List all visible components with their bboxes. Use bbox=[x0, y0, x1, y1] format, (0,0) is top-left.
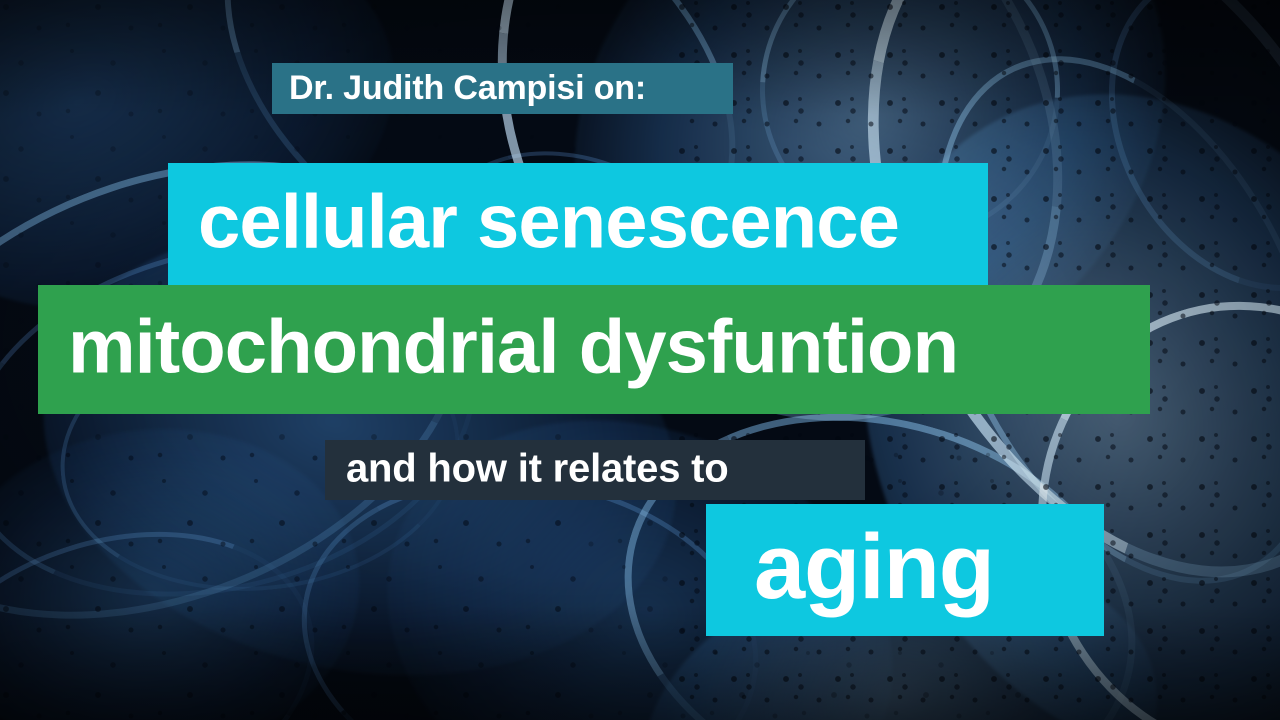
subject-band: aging bbox=[706, 504, 1104, 636]
video-thumbnail: Dr. Judith Campisi on: cellular senescen… bbox=[0, 0, 1280, 720]
connector-band: and how it relates to bbox=[325, 440, 865, 500]
presenter-band: Dr. Judith Campisi on: bbox=[272, 63, 733, 114]
connector-text: and how it relates to bbox=[346, 449, 729, 489]
topic-two-band: mitochondrial dysfuntion bbox=[38, 285, 1150, 414]
presenter-text: Dr. Judith Campisi on: bbox=[289, 70, 646, 104]
topic-one-text: cellular senescence bbox=[198, 184, 899, 260]
topic-one-band: cellular senescence bbox=[168, 163, 988, 287]
topic-two-text: mitochondrial dysfuntion bbox=[68, 309, 958, 385]
subject-text: aging bbox=[754, 521, 994, 613]
